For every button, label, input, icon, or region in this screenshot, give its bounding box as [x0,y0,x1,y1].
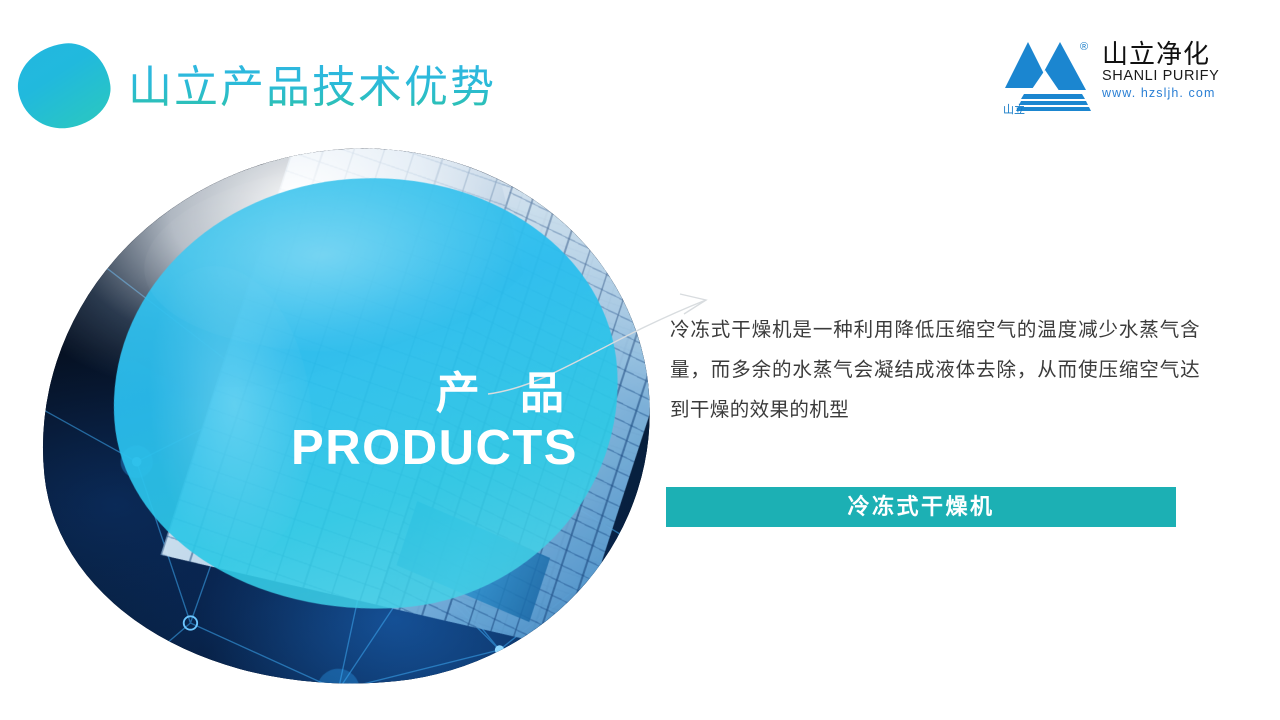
product-description: 冷冻式干燥机是一种利用降低压缩空气的温度减少水蒸气含量，而多余的水蒸气会凝结成液… [670,310,1200,430]
logo-website-url: www. hzsljh. com [1102,85,1222,101]
logo-mark-label: 山立 [1003,105,1025,116]
product-name-banner[interactable]: 冷冻式干燥机 [666,487,1176,527]
header-decor-blob-icon [13,38,116,134]
page-title: 山立产品技术优势 [128,58,496,118]
logo-text-block: 山立净化 SHANLI PURIFY www. hzsljh. com [1102,40,1222,101]
logo-company-en: SHANLI PURIFY [1102,68,1222,85]
products-hero-visual: 产 品 PRODUCTS [40,150,650,685]
hero-blob-shape [14,120,677,716]
connector-line [480,290,710,410]
company-logo: ® 山立 山立净化 SHANLI PURIFY www. hzsljh. com [1002,34,1218,120]
logo-company-cn: 山立净化 [1102,40,1222,68]
product-name-banner-label: 冷冻式干燥机 [847,496,994,518]
registered-trademark-icon: ® [1080,42,1088,53]
slide-root: 山立产品技术优势 ® 山立 山立净化 SHANLI PURIFY www. hz… [0,0,1280,720]
